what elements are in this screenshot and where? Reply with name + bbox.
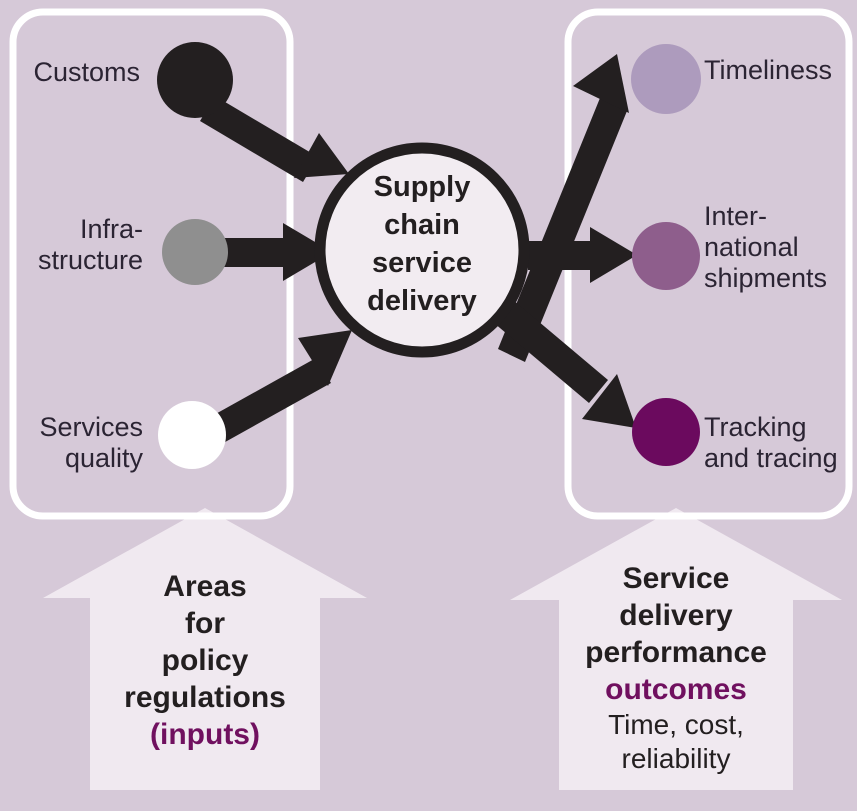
dot-customs bbox=[157, 42, 233, 118]
outcome-label-tracking-and-tracing: Tracking and tracing bbox=[704, 412, 854, 474]
dot-tracking-and-tracing bbox=[632, 398, 700, 466]
hub-label: Supply chain service delivery bbox=[318, 168, 526, 320]
outcomes-arrow-bold-text: Service delivery performance bbox=[549, 560, 803, 671]
input-label-customs: Customs bbox=[20, 57, 140, 88]
diagram-canvas: Supply chain service delivery Customs In… bbox=[0, 0, 857, 811]
inputs-arrow-caption: Areas for policy regulations (inputs) bbox=[90, 568, 320, 753]
inputs-arrow-bold-text: Areas for policy regulations bbox=[90, 568, 320, 716]
inputs-arrow-accent-text: (inputs) bbox=[90, 716, 320, 753]
outcome-label-international-shipments: Inter- national shipments bbox=[704, 201, 854, 294]
dot-services-quality bbox=[158, 401, 226, 469]
dot-international-shipments bbox=[632, 222, 700, 290]
dot-timeliness bbox=[631, 44, 701, 114]
input-label-services-quality: Services quality bbox=[20, 412, 143, 474]
outcomes-arrow-accent-text: outcomes bbox=[549, 671, 803, 708]
outcomes-arrow-plain-text: Time, cost, reliability bbox=[549, 708, 803, 776]
outcomes-arrow-caption: Service delivery performance outcomes Ti… bbox=[549, 560, 803, 776]
dot-infrastructure bbox=[162, 219, 228, 285]
outcome-label-timeliness: Timeliness bbox=[704, 55, 854, 86]
input-label-infrastructure: Infra- structure bbox=[20, 214, 143, 276]
